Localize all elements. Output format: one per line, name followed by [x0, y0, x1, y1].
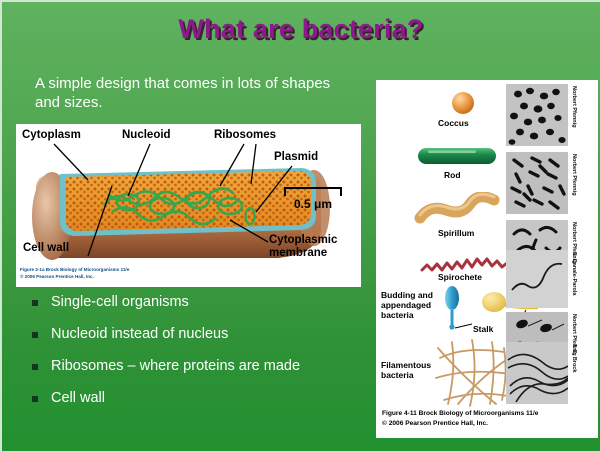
micrograph-rod	[506, 152, 568, 214]
label-ribosomes: Ribosomes	[214, 129, 276, 141]
credit-rod: Norbert Pfennig	[571, 154, 577, 196]
label-cell-wall: Cell wall	[23, 242, 69, 254]
bullet-square-icon	[32, 396, 38, 402]
scale-bar: 0.5 μm	[284, 187, 342, 211]
coccus-illustration	[446, 88, 480, 118]
label-filamentous-bacteria: Filamentous bacteria	[381, 360, 439, 380]
label-rod: Rod	[444, 170, 461, 180]
bullet-square-icon	[32, 332, 38, 338]
list-item: Ribosomes – where proteins are made	[32, 358, 362, 375]
label-cytoplasmic-membrane: Cytoplasmic membrane	[269, 234, 359, 260]
label-spirillum: Spirillum	[438, 228, 474, 238]
bacterial-cell-figure: Cytoplasm Nucleoid Ribosomes Plasmid Cel…	[16, 124, 361, 287]
filamentous-bacteria-illustration	[434, 338, 514, 408]
bullet-list: Single-cell organisms Nucleoid instead o…	[32, 294, 362, 422]
label-stalk: Stalk	[473, 324, 493, 334]
scale-bar-line	[284, 187, 342, 196]
cell-figure-caption-line2: © 2006 Pearson Prentice Hall, Inc.	[20, 274, 94, 279]
list-item: Single-cell organisms	[32, 294, 362, 311]
list-item: Nucleoid instead of nucleus	[32, 326, 362, 343]
bullet-square-icon	[32, 364, 38, 370]
label-budding-appendaged-bacteria: Budding and appendaged bacteria	[381, 290, 439, 320]
micrograph-spirochete	[506, 250, 568, 308]
bullet-text: Ribosomes – where proteins are made	[51, 358, 300, 375]
spirillum-illustration	[412, 192, 502, 230]
label-plasmid: Plasmid	[274, 151, 318, 163]
label-spirochete: Spirochete	[438, 272, 482, 282]
bullet-text: Single-cell organisms	[51, 294, 189, 311]
micrograph-coccus	[506, 84, 568, 146]
micrograph-filamentous	[506, 342, 568, 404]
label-cytoplasm: Cytoplasm	[22, 129, 81, 141]
subtitle-text: A simple design that comes in lots of sh…	[35, 74, 355, 112]
slide: What are bacteria? A simple design that …	[0, 0, 600, 451]
list-item: Cell wall	[32, 390, 362, 407]
bullet-square-icon	[32, 300, 38, 306]
label-coccus: Coccus	[438, 118, 469, 128]
bullet-text: Nucleoid instead of nucleus	[51, 326, 228, 343]
page-title: What are bacteria?	[2, 14, 600, 45]
credit-filamentous: T. D. Brock	[571, 344, 577, 372]
credit-spirochete: E. Canale-Parola	[571, 252, 577, 295]
scale-bar-label: 0.5 μm	[284, 197, 342, 211]
label-nucleoid: Nucleoid	[122, 129, 171, 141]
bullet-text: Cell wall	[51, 390, 105, 407]
cell-figure-caption-line1: Figure 2-1a Brock Biology of Microorgani…	[20, 267, 129, 272]
shapes-figure-caption-line1: Figure 4-11 Brock Biology of Microorgani…	[382, 410, 538, 417]
credit-coccus: Norbert Pfennig	[571, 86, 577, 128]
bacterial-shapes-figure: Coccus Rod Spirillum Spirochete	[376, 80, 598, 438]
rod-illustration	[416, 144, 498, 168]
shapes-figure-caption-line2: © 2006 Pearson Prentice Hall, Inc.	[382, 420, 488, 427]
